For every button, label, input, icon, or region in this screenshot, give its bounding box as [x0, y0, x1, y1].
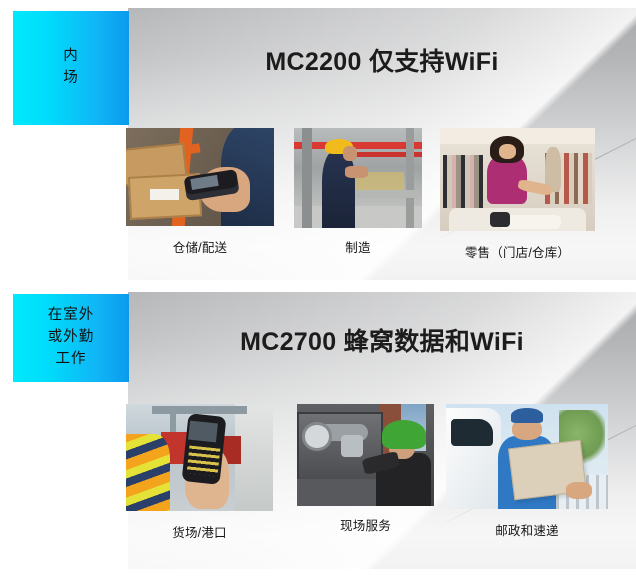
category-tag-outdoor-line-2: 或外勤 [48, 327, 95, 349]
warehouse-scanning-photo [126, 128, 274, 226]
category-tag-indoor-line-1: 内 [63, 46, 79, 68]
photo-cell-postal: 邮政和速递 [446, 404, 608, 539]
category-tag-outdoor-text: 在室外 或外勤 工作 [48, 305, 95, 370]
section-outdoor: 在室外 或外勤 工作 MC2700 蜂窝数据和WiFi [0, 292, 636, 569]
category-tag-indoor-line-2: 场 [63, 68, 79, 90]
photo-row-indoor: 仓储/配送 制造 [118, 128, 630, 261]
section-indoor: 内 场 MC2200 仅支持WiFi 仓储/配送 [0, 8, 636, 280]
port-yard-photo [126, 404, 273, 511]
caption-field-service: 现场服务 [340, 515, 391, 534]
category-tag-outdoor-line-3: 工作 [48, 349, 95, 371]
photo-cell-manufacturing: 制造 [294, 128, 422, 256]
field-service-photo [297, 404, 434, 506]
photo-cell-retail: 零售（门店/仓库） [440, 128, 595, 261]
caption-warehouse: 仓储/配送 [173, 237, 227, 256]
photo-cell-warehouse: 仓储/配送 [126, 128, 274, 256]
caption-port: 货场/港口 [172, 522, 226, 541]
slide-canvas: 内 场 MC2200 仅支持WiFi 仓储/配送 [0, 0, 636, 577]
caption-manufacturing: 制造 [345, 237, 370, 256]
caption-retail: 零售（门店/仓库） [465, 242, 570, 261]
category-tag-outdoor-line-1: 在室外 [48, 305, 95, 327]
category-tag-outdoor: 在室外 或外勤 工作 [13, 294, 129, 382]
heading-mc2200: MC2200 仅支持WiFi [128, 42, 636, 78]
photo-row-outdoor: 货场/港口 现场服务 [118, 404, 630, 541]
retail-store-photo [440, 128, 595, 231]
postal-courier-photo [446, 404, 608, 509]
factory-worker-photo [294, 128, 422, 228]
category-tag-indoor-text: 内 场 [63, 46, 79, 90]
photo-cell-port: 货场/港口 [126, 404, 273, 541]
heading-mc2700: MC2700 蜂窝数据和WiFi [128, 322, 636, 358]
category-tag-indoor: 内 场 [13, 11, 129, 125]
photo-cell-field-service: 现场服务 [297, 404, 434, 534]
caption-postal: 邮政和速递 [495, 520, 559, 539]
